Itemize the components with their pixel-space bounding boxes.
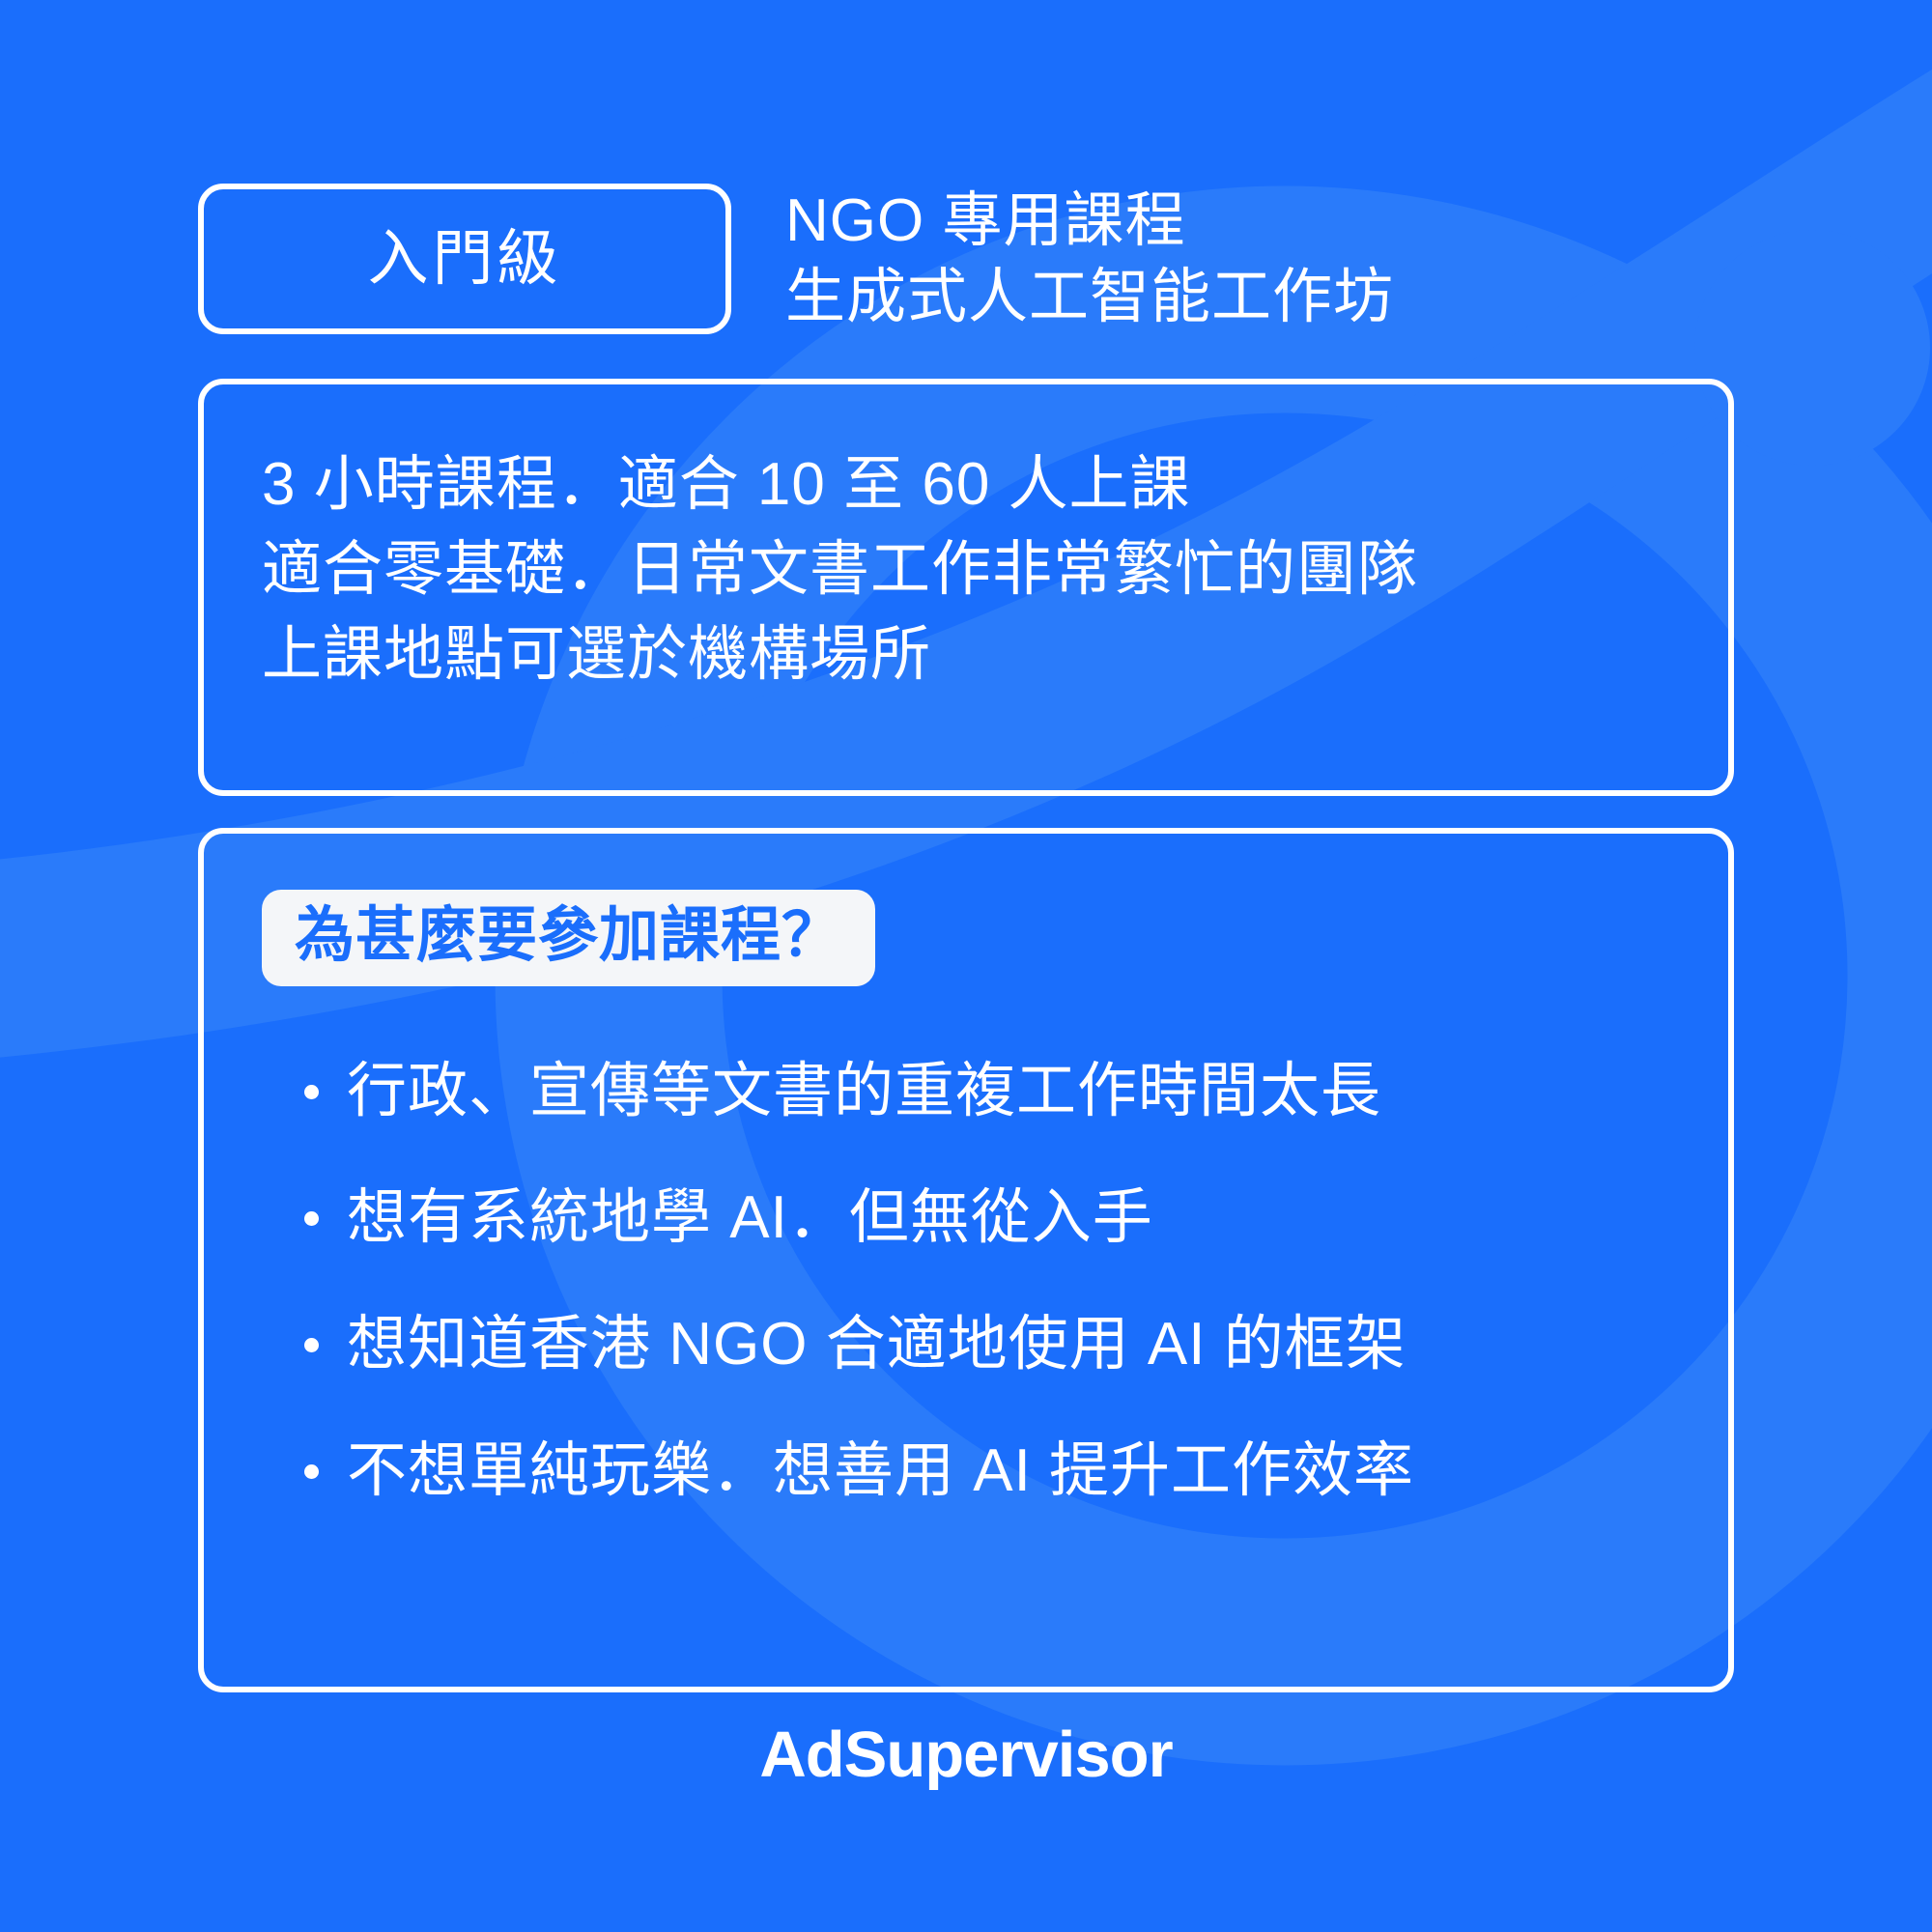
course-info-card: 3 小時課程．適合 10 至 60 人上課 適合零基礎．日常文書工作非常繁忙的團… bbox=[198, 379, 1734, 796]
header-titles: NGO 專用課程 生成式人工智能工作坊 bbox=[785, 183, 1394, 336]
reason-text: 不想單純玩樂．想善用 AI 提升工作效率 bbox=[347, 1437, 1414, 1504]
course-info-line-2: 適合零基礎．日常文書工作非常繁忙的團隊 bbox=[262, 527, 1670, 612]
reason-text: 想有系統地學 AI．但無從入手 bbox=[347, 1184, 1153, 1251]
reason-text: 想知道香港 NGO 合適地使用 AI 的框架 bbox=[347, 1311, 1406, 1378]
brand-wordmark: AdSupervisor bbox=[759, 1719, 1172, 1791]
level-badge: 入門級 bbox=[198, 184, 731, 334]
course-title-line-2: 生成式人工智能工作坊 bbox=[785, 259, 1394, 335]
bullet-dot-icon bbox=[304, 1085, 319, 1099]
poster-canvas: 入門級 NGO 專用課程 生成式人工智能工作坊 3 小時課程．適合 10 至 6… bbox=[0, 0, 1932, 1932]
list-item: 不想單純玩樂．想善用 AI 提升工作效率 bbox=[347, 1441, 1670, 1501]
list-item: 行政、宣傳等文書的重複工作時間太長 bbox=[347, 1062, 1670, 1122]
bullet-dot-icon bbox=[304, 1338, 319, 1352]
reason-text: 行政、宣傳等文書的重複工作時間太長 bbox=[347, 1058, 1381, 1124]
reasons-heading-label: 為甚麼要參加課程？ bbox=[295, 906, 842, 966]
course-title-line-1: NGO 專用課程 bbox=[785, 183, 1394, 259]
reasons-card: 為甚麼要參加課程？ 行政、宣傳等文書的重複工作時間太長 想有系統地學 AI．但無… bbox=[198, 828, 1734, 1692]
course-info-line-3: 上課地點可選於機構場所 bbox=[262, 612, 1670, 697]
course-info-line-1: 3 小時課程．適合 10 至 60 人上課 bbox=[262, 442, 1670, 527]
list-item: 想有系統地學 AI．但無從入手 bbox=[347, 1188, 1670, 1248]
bullet-dot-icon bbox=[304, 1211, 319, 1226]
reasons-list: 行政、宣傳等文書的重複工作時間太長 想有系統地學 AI．但無從入手 想知道香港 … bbox=[262, 1062, 1670, 1501]
header-row: 入門級 NGO 專用課程 生成式人工智能工作坊 bbox=[198, 184, 1734, 334]
bullet-dot-icon bbox=[304, 1464, 319, 1479]
footer-brand: AdSupervisor bbox=[0, 1722, 1932, 1787]
reasons-heading-pill: 為甚麼要參加課程？ bbox=[262, 890, 875, 986]
poster-content: 入門級 NGO 專用課程 生成式人工智能工作坊 3 小時課程．適合 10 至 6… bbox=[0, 0, 1932, 1932]
list-item: 想知道香港 NGO 合適地使用 AI 的框架 bbox=[347, 1315, 1670, 1375]
level-badge-label: 入門級 bbox=[368, 229, 562, 290]
